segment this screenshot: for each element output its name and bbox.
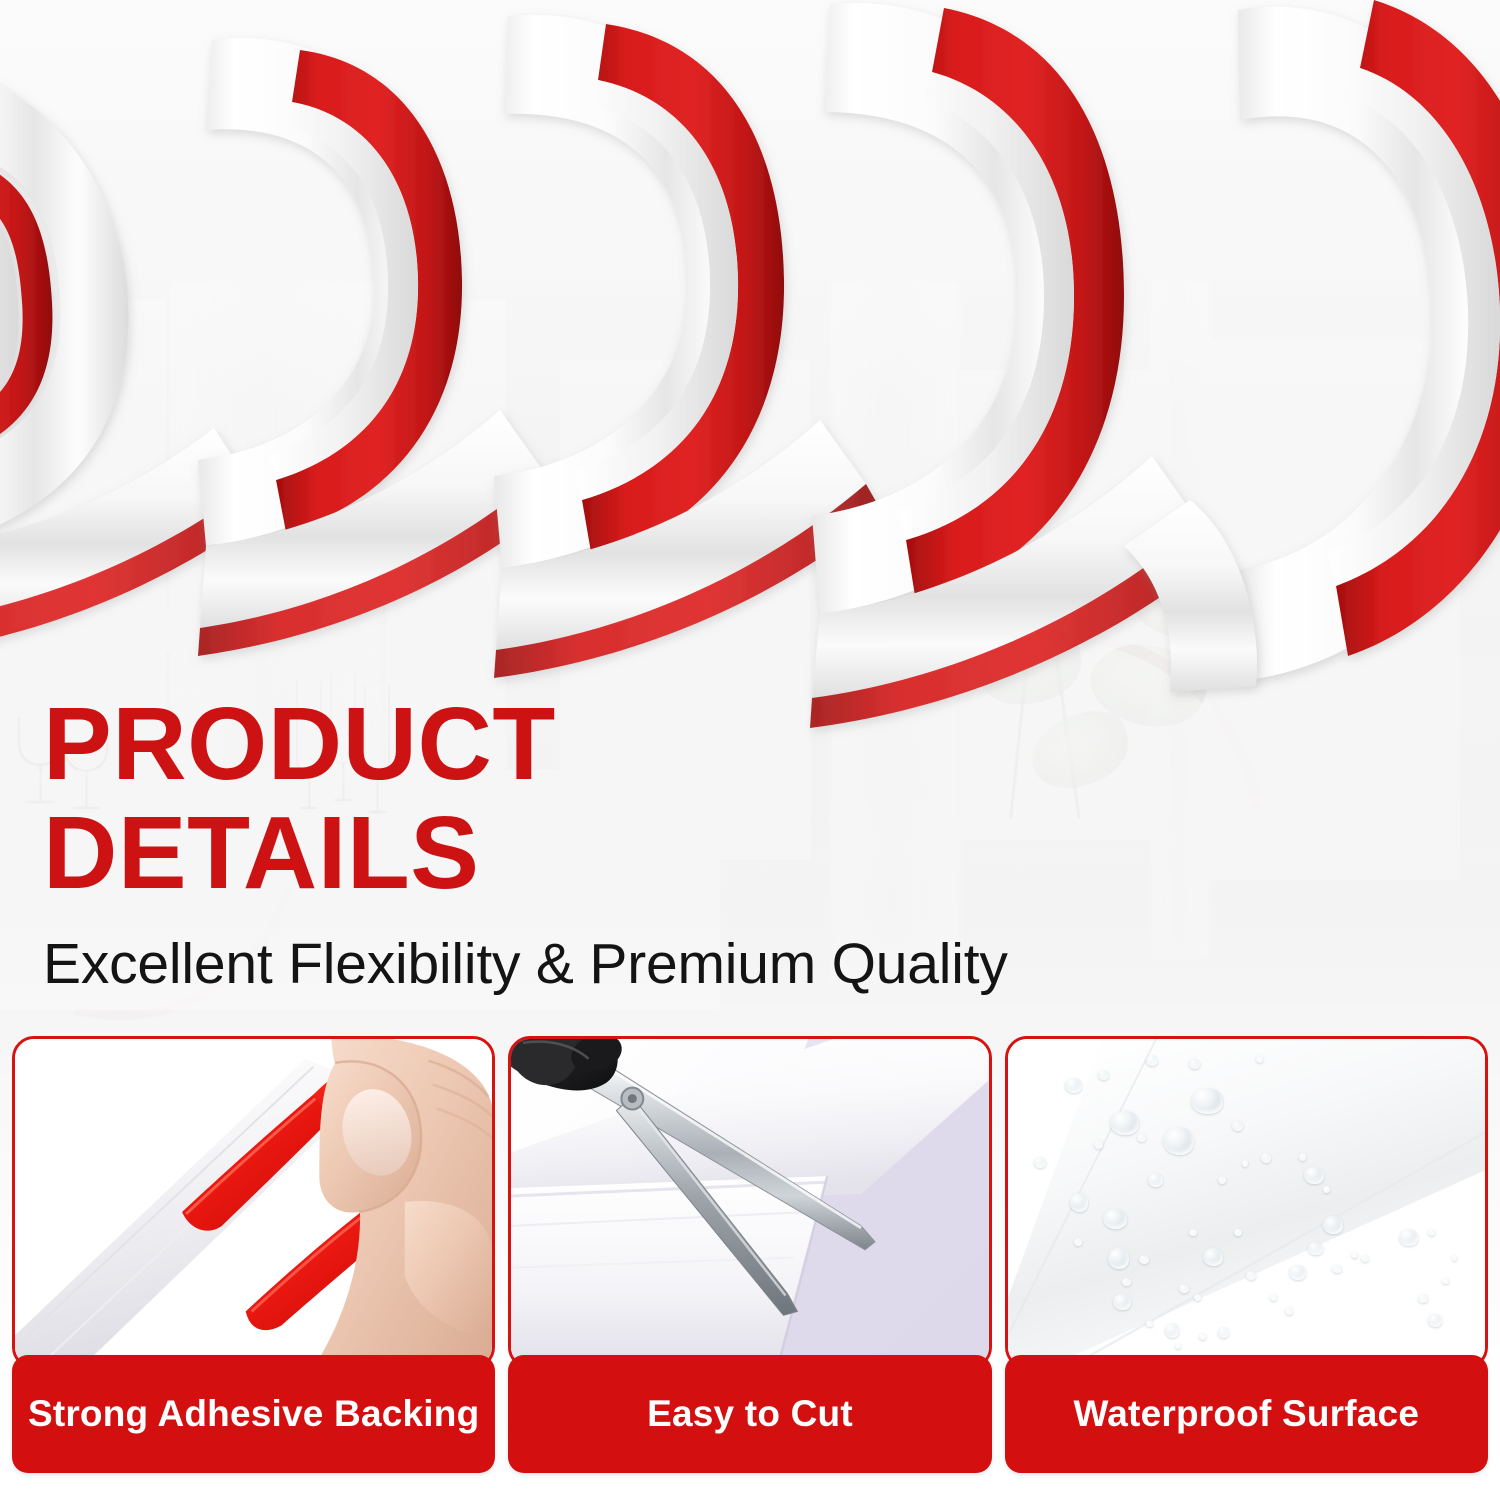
- product-detail-infographic: PRODUCT DETAILS Excellent Flexibility & …: [0, 0, 1500, 1500]
- hero-coiled-tape: [0, 0, 1500, 800]
- feature-image-frame: [1005, 1036, 1488, 1369]
- page-title-line-1: PRODUCT: [43, 692, 1243, 795]
- title-block: PRODUCT DETAILS Excellent Flexibility & …: [43, 692, 1243, 994]
- coiled-tape-illustration: [0, 0, 1500, 800]
- page-title-line-2: DETAILS: [43, 801, 1243, 904]
- tape-coil-4: [810, 3, 1218, 728]
- feature-image-frame: [12, 1036, 495, 1369]
- feature-caption-waterproof-surface: Waterproof Surface: [1005, 1355, 1488, 1473]
- tape-coil-5: [1236, 0, 1500, 680]
- scissors-cutting-image: [511, 1039, 988, 1366]
- feature-caption-strong-adhesive-backing: Strong Adhesive Backing: [12, 1355, 495, 1473]
- hand: [313, 1039, 492, 1366]
- page-subtitle: Excellent Flexibility & Premium Quality: [43, 934, 1243, 994]
- feature-card-strong-adhesive-backing[interactable]: Strong Adhesive Backing: [12, 1036, 495, 1488]
- feature-image-frame: [508, 1036, 991, 1369]
- feature-card-waterproof-surface[interactable]: Waterproof Surface: [1005, 1036, 1488, 1488]
- feature-caption-easy-to-cut: Easy to Cut: [508, 1355, 991, 1473]
- adhesive-peel-image: [15, 1039, 492, 1366]
- feature-panel-row: Strong Adhesive Backing: [12, 1036, 1488, 1488]
- feature-card-easy-to-cut[interactable]: Easy to Cut: [508, 1036, 991, 1488]
